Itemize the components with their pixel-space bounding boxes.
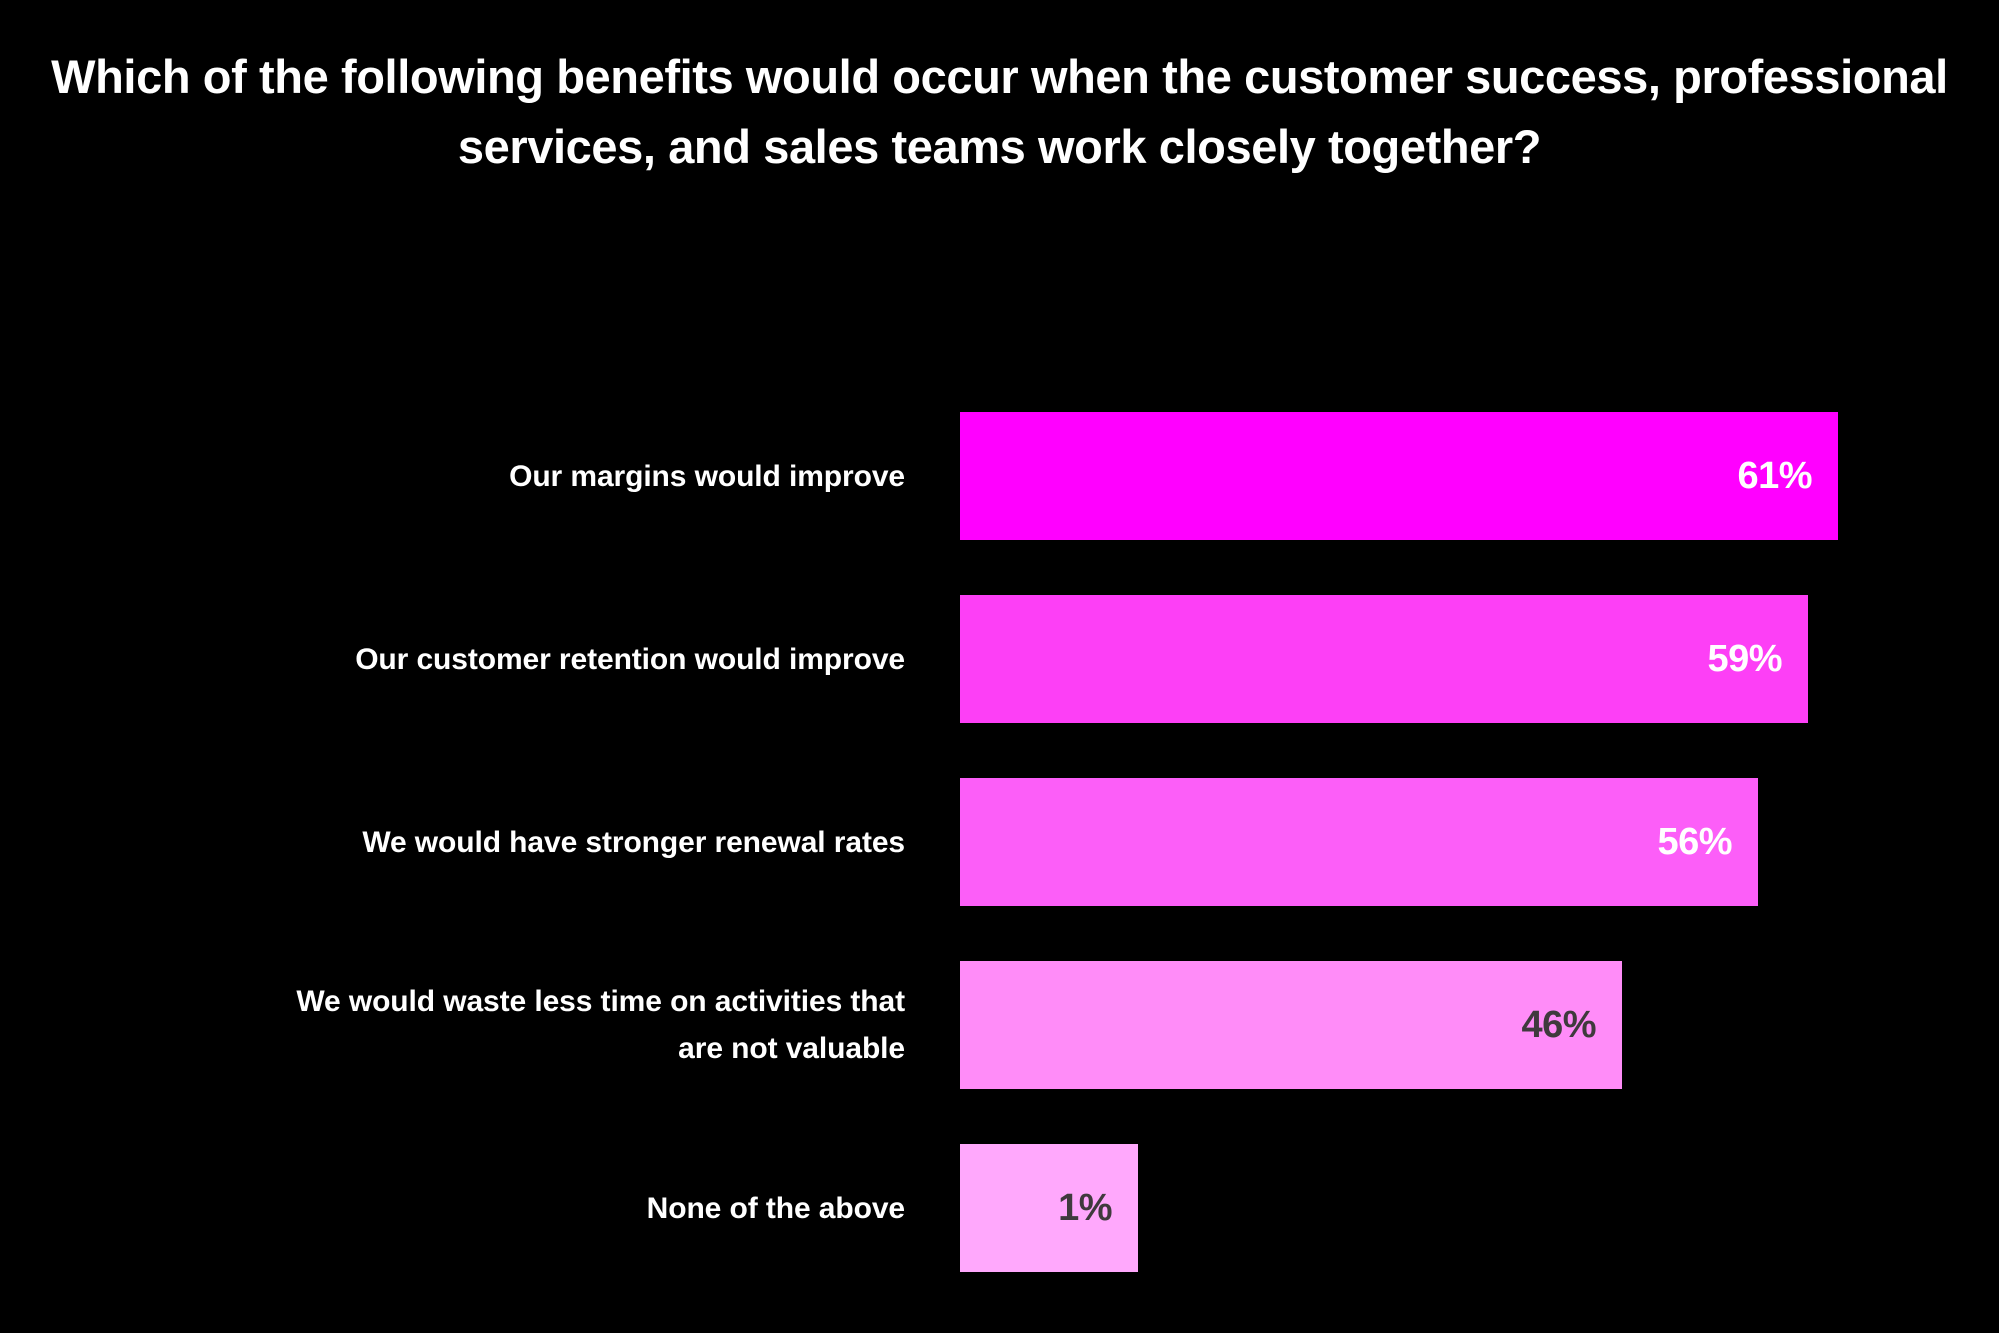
bar-value-label: 1% xyxy=(1058,1187,1138,1230)
bar-track: 61% xyxy=(960,412,1999,540)
bar-row: None of the above 1% xyxy=(0,1144,1999,1272)
bar-row: Our margins would improve 61% xyxy=(0,412,1999,540)
bar-value-label: 59% xyxy=(1707,638,1808,681)
bar-row: We would have stronger renewal rates 56% xyxy=(0,778,1999,906)
bar-rect[interactable]: 1% xyxy=(960,1144,1138,1272)
bar-row: We would waste less time on activities t… xyxy=(0,961,1999,1089)
bar-rect[interactable]: 56% xyxy=(960,778,1758,906)
bar-value-label: 46% xyxy=(1521,1004,1622,1047)
bar-category-label: We would have stronger renewal rates xyxy=(0,819,905,866)
bar-category-label: Our margins would improve xyxy=(0,453,905,500)
bar-track: 59% xyxy=(960,595,1999,723)
bar-rect[interactable]: 59% xyxy=(960,595,1808,723)
bar-category-label: Our customer retention would improve xyxy=(0,636,905,683)
chart-plot-area: Our margins would improve 61% Our custom… xyxy=(0,390,1999,1290)
chart-title: Which of the following benefits would oc… xyxy=(0,42,1999,182)
bar-rect[interactable]: 61% xyxy=(960,412,1838,540)
bar-rect[interactable]: 46% xyxy=(960,961,1622,1089)
bar-row: Our customer retention would improve 59% xyxy=(0,595,1999,723)
bar-chart-slide: Which of the following benefits would oc… xyxy=(0,0,1999,1333)
bar-track: 56% xyxy=(960,778,1999,906)
bar-track: 1% xyxy=(960,1144,1999,1272)
bar-value-label: 56% xyxy=(1657,821,1758,864)
bar-value-label: 61% xyxy=(1737,455,1838,498)
bar-track: 46% xyxy=(960,961,1999,1089)
bar-category-label: None of the above xyxy=(0,1185,905,1232)
bar-category-label: We would waste less time on activities t… xyxy=(0,978,905,1072)
